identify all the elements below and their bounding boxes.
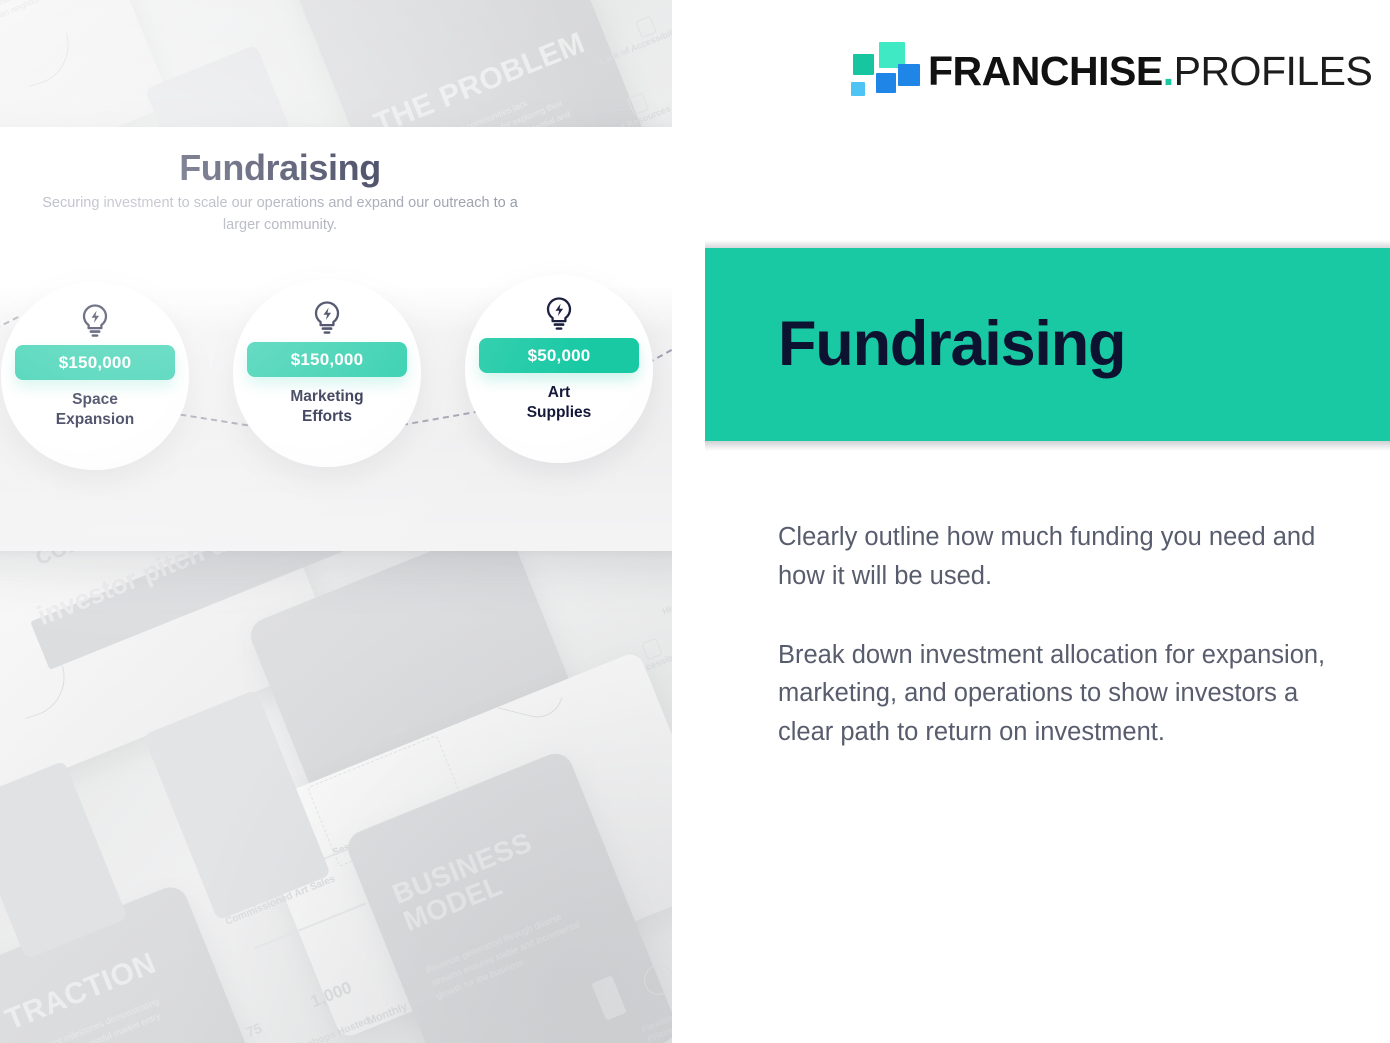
page-title: Fundraising [778,313,1125,376]
body-paragraph-1: Clearly outline how much funding you nee… [778,518,1358,596]
slide-canvas: MARKET The demand for creative spaces in… [0,0,1390,1043]
body-paragraph-2: Break down investment allocation for exp… [778,636,1358,752]
brand-name-light: PROFILES [1174,48,1373,94]
headline-banner: Fundraising [705,248,1390,441]
amount-badge: $150,000 [247,342,407,377]
amount-badge: $50,000 [479,338,639,373]
body-copy: Clearly outline how much funding you nee… [778,518,1358,752]
deck-metric-value: 75 [244,1020,264,1041]
deck-label: High Costs [660,589,672,618]
fundraising-slide-card: Fundraising Securing investment to scale… [0,127,672,551]
brand-logo: FRANCHISE.PROFILES [850,42,1372,100]
card-header: Fundraising Securing investment to scale… [0,127,672,277]
fund-item-space-expansion[interactable]: $150,000 Space Expansion [1,282,189,470]
fund-item-label: Marketing Efforts [290,387,363,428]
banner-top-shadow [705,240,1390,248]
lightbulb-bolt-icon [79,303,111,339]
left-visual-panel: MARKET The demand for creative spaces in… [0,0,672,1043]
brand-dot: . [1163,48,1174,94]
right-content-panel: FRANCHISE.PROFILES Fundraising Clearly o… [672,0,1390,1043]
deck-slide-title: BUSINESS MODEL [389,826,550,937]
fund-item-art-supplies[interactable]: $50,000 Art Supplies [465,275,653,463]
fund-item-label: Art Supplies [527,383,592,424]
brand-name-bold: FRANCHISE [928,48,1163,94]
brand-wordmark: FRANCHISE.PROFILES [928,51,1372,92]
card-title: Fundraising [0,147,560,189]
lightbulb-bolt-icon [311,300,343,336]
fund-item-label: Space Expansion [56,390,134,431]
deck-metric-label: Workshops Hosted [283,1015,372,1043]
card-subtitle: Securing investment to scale our operati… [40,193,520,237]
lightbulb-bolt-icon [543,296,575,332]
fund-item-marketing-efforts[interactable]: $150,000 Marketing Efforts [233,279,421,467]
amount-badge: $150,000 [15,345,175,380]
five-squares-mark-icon [850,42,906,100]
banner-bottom-shadow [705,441,1390,451]
